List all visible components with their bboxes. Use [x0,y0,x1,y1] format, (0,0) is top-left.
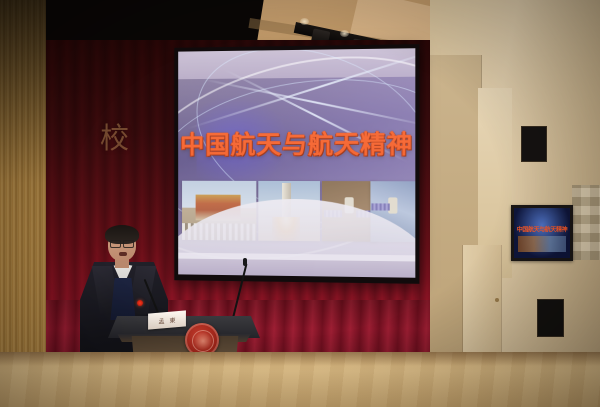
wall-banner-character: 校 [100,115,129,157]
side-monitor-photo-strip [518,236,566,252]
lamp-glow [300,18,309,25]
wall-vent-panel [537,299,564,337]
speaker-lapel-pin-icon [137,300,143,306]
lamp-glow [340,30,349,37]
speaker-nameplate: 孟 東 [148,310,186,329]
door-handle-icon[interactable] [495,298,499,302]
wall-access-panel [521,126,547,162]
auditorium-photo: 校 中国航天与航天精神 中国航天与航天精神 [0,0,600,407]
glasses-icon [110,240,134,246]
microphone-head-icon [243,258,247,266]
nameplate-char-1: 孟 [159,316,165,326]
side-monitor-title: 中国航天与航天精神 [517,225,567,234]
wall-grid-texture [572,185,600,260]
side-monitor[interactable]: 中国航天与航天精神 [511,205,573,261]
projection-washout-overlay [178,48,415,277]
nameplate-char-2: 東 [169,315,175,325]
projection-screen: 中国航天与航天精神 [178,48,415,277]
stage-floor-shadow [0,352,600,366]
wood-slat-panel-shading [0,0,46,407]
speaker-mouth [119,252,127,256]
